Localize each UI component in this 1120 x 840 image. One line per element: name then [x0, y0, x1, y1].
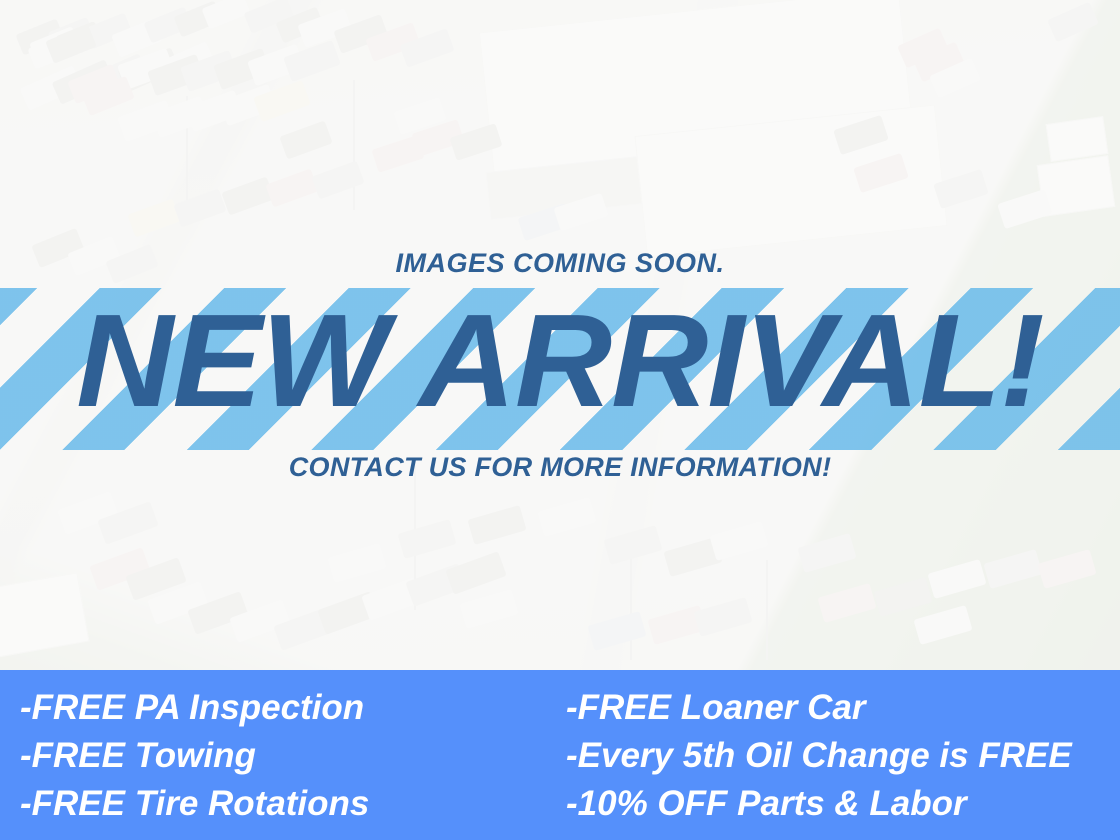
offer-item: -FREE Towing [20, 732, 560, 780]
new-arrival-headline: NEW ARRIVAL! [0, 286, 1120, 436]
service-offers-banner: -FREE PA Inspection -FREE Towing -FREE T… [0, 670, 1120, 840]
offer-item: -FREE Tire Rotations [20, 780, 560, 828]
offer-item: -Every 5th Oil Change is FREE [566, 732, 1120, 780]
images-coming-soon-label: IMAGES COMING SOON. [0, 248, 1120, 279]
offer-item: -10% OFF Parts & Labor [566, 780, 1120, 828]
contact-us-label: CONTACT US FOR MORE INFORMATION! [0, 452, 1120, 483]
offer-item: -FREE PA Inspection [20, 684, 560, 732]
placeholder-headline-block: IMAGES COMING SOON. NEW ARRIVAL! CONTACT… [0, 0, 1120, 670]
offer-item: -FREE Loaner Car [566, 684, 1120, 732]
offers-column-right: -FREE Loaner Car -Every 5th Oil Change i… [560, 684, 1120, 828]
vehicle-image-placeholder-card: IMAGES COMING SOON. NEW ARRIVAL! CONTACT… [0, 0, 1120, 840]
offers-column-left: -FREE PA Inspection -FREE Towing -FREE T… [0, 684, 560, 828]
